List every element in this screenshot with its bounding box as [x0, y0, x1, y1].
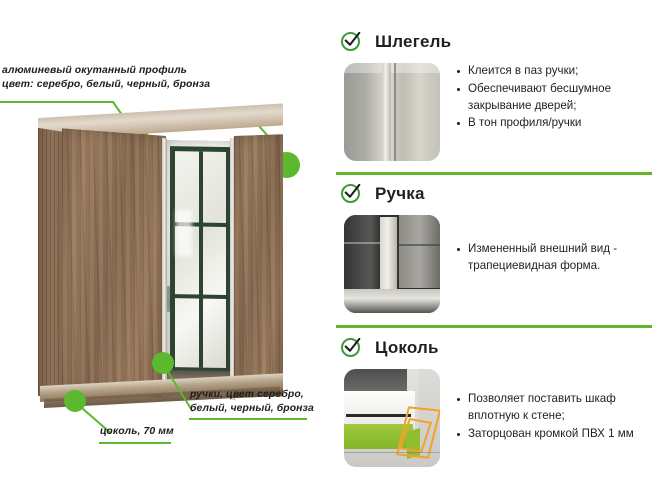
feature-block-handle: Ручка Измененный внешний вид - трапециев…	[332, 182, 652, 313]
list-item: Клеится в паз ручки;	[456, 63, 652, 80]
wardrobe-door-right	[234, 134, 283, 398]
feature-handle-bullets: Измененный внешний вид - трапециевидная …	[456, 215, 652, 313]
feature-handle-header: Ручка	[332, 182, 652, 206]
feature-shlegel-body: Клеится в паз ручки; Обеспечивают бесшум…	[332, 63, 652, 161]
feature-divider-2	[336, 325, 652, 328]
mirror-reflection-frame	[170, 146, 231, 373]
callout-plinth-line1: цоколь, 70 мм	[100, 425, 250, 439]
callout-plinth-underline	[99, 442, 171, 444]
callout-plinth: цоколь, 70 мм	[100, 425, 250, 439]
feature-shlegel-title: Шлегель	[375, 32, 451, 52]
shlegel-photo	[344, 63, 440, 161]
callout-aluminium-profile-line1: алюминевый окутанный профиль	[2, 64, 302, 78]
list-item: Обеспечивают бесшумное закрывание дверей…	[456, 81, 652, 115]
mirror-door-handle	[167, 286, 170, 312]
handle-photo	[344, 215, 440, 313]
list-item: В тон профиля/ручки	[456, 115, 652, 132]
feature-plinth-bullets: Позволяет поставить шкаф вплотную к стен…	[456, 369, 652, 467]
feature-plinth-title: Цоколь	[375, 338, 439, 358]
callout-handles-underline	[189, 418, 307, 420]
check-circle-icon	[340, 182, 364, 206]
features-pane: Шлегель Клеится в паз ручки; Обеспечиваю…	[332, 0, 652, 500]
check-circle-icon	[340, 30, 364, 54]
product-info-slide: алюминевый окутанный профиль цвет: сереб…	[0, 0, 652, 500]
feature-divider-1	[336, 172, 652, 175]
feature-plinth-body: Позволяет поставить шкаф вплотную к стен…	[332, 369, 652, 467]
feature-shlegel-header: Шлегель	[332, 30, 652, 54]
list-item: Измененный внешний вид - трапециевидная …	[456, 241, 652, 275]
check-mark-icon	[344, 184, 361, 201]
feature-handle-title: Ручка	[375, 184, 425, 204]
feature-shlegel-bullets: Клеится в паз ручки; Обеспечивают бесшум…	[456, 63, 652, 161]
callout-handles: ручки, цвет серебро, белый, черный, брон…	[190, 388, 330, 415]
feature-block-shlegel: Шлегель Клеится в паз ручки; Обеспечиваю…	[332, 30, 652, 161]
check-circle-icon	[340, 336, 364, 360]
callout-handles-line2: белый, черный, бронза	[190, 402, 330, 416]
feature-block-plinth: Цоколь Позволяет поставить шкаф вплотную…	[332, 336, 652, 467]
list-item: Заторцован кромкой ПВХ 1 мм	[456, 426, 652, 443]
callout-aluminium-profile-underline	[0, 101, 114, 103]
plinth-photo	[344, 369, 440, 467]
wardrobe-mirror-door	[166, 140, 234, 391]
mirror-glare	[176, 210, 192, 256]
wardrobe-door-left	[62, 128, 166, 398]
callout-aluminium-profile-line2: цвет: серебро, белый, черный, бронза	[2, 78, 302, 92]
wardrobe-side-panel	[38, 128, 64, 400]
callout-handles-line1: ручки, цвет серебро,	[190, 388, 330, 402]
feature-handle-body: Измененный внешний вид - трапециевидная …	[332, 215, 652, 313]
callout-aluminium-profile: алюминевый окутанный профиль цвет: сереб…	[2, 64, 302, 91]
feature-plinth-header: Цоколь	[332, 336, 652, 360]
check-mark-icon	[344, 338, 361, 355]
check-mark-icon	[344, 32, 361, 49]
wardrobe-illustration-pane: алюминевый окутанный профиль цвет: сереб…	[0, 0, 330, 500]
list-item: Позволяет поставить шкаф вплотную к стен…	[456, 391, 652, 425]
